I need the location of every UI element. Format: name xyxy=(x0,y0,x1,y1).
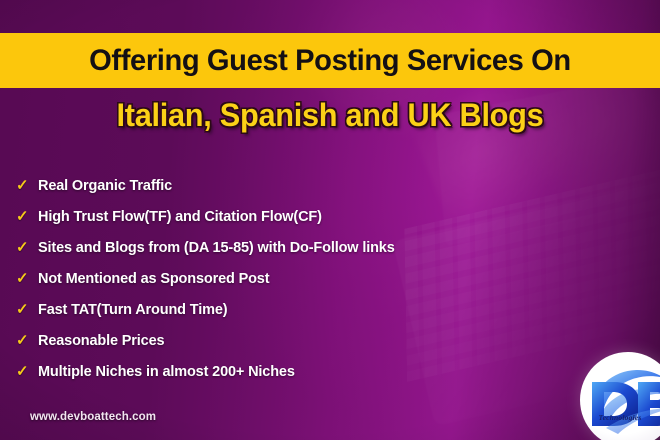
headline-text: Offering Guest Posting Services On xyxy=(10,46,650,76)
check-icon: ✓ xyxy=(16,178,38,193)
logo-tagline: Technologies xyxy=(580,413,660,422)
website-url: www.devboattech.com xyxy=(30,411,156,423)
list-item: ✓ Fast TAT(Turn Around Time) xyxy=(16,294,486,325)
poster: Offering Guest Posting Services On Itali… xyxy=(0,0,660,440)
headline-banner: Offering Guest Posting Services On xyxy=(0,33,660,88)
check-icon: ✓ xyxy=(16,209,38,224)
feature-label: High Trust Flow(TF) and Citation Flow(CF… xyxy=(38,209,322,225)
list-item: ✓ Not Mentioned as Sponsored Post xyxy=(16,263,486,294)
list-item: ✓ Real Organic Traffic xyxy=(16,170,486,201)
check-icon: ✓ xyxy=(16,240,38,255)
feature-label: Not Mentioned as Sponsored Post xyxy=(38,271,269,287)
feature-label: Reasonable Prices xyxy=(38,333,164,349)
subtitle-text: Italian, Spanish and UK Blogs xyxy=(13,98,647,134)
list-item: ✓ High Trust Flow(TF) and Citation Flow(… xyxy=(16,201,486,232)
feature-label: Multiple Niches in almost 200+ Niches xyxy=(38,364,295,380)
check-icon: ✓ xyxy=(16,333,38,348)
check-icon: ✓ xyxy=(16,302,38,317)
feature-list: ✓ Real Organic Traffic ✓ High Trust Flow… xyxy=(16,170,486,387)
check-icon: ✓ xyxy=(16,271,38,286)
list-item: ✓ Reasonable Prices xyxy=(16,325,486,356)
feature-label: Fast TAT(Turn Around Time) xyxy=(38,302,227,318)
list-item: ✓ Multiple Niches in almost 200+ Niches xyxy=(16,356,486,387)
feature-label: Sites and Blogs from (DA 15-85) with Do-… xyxy=(38,240,395,256)
check-icon: ✓ xyxy=(16,364,38,379)
list-item: ✓ Sites and Blogs from (DA 15-85) with D… xyxy=(16,232,486,263)
feature-label: Real Organic Traffic xyxy=(38,178,172,194)
